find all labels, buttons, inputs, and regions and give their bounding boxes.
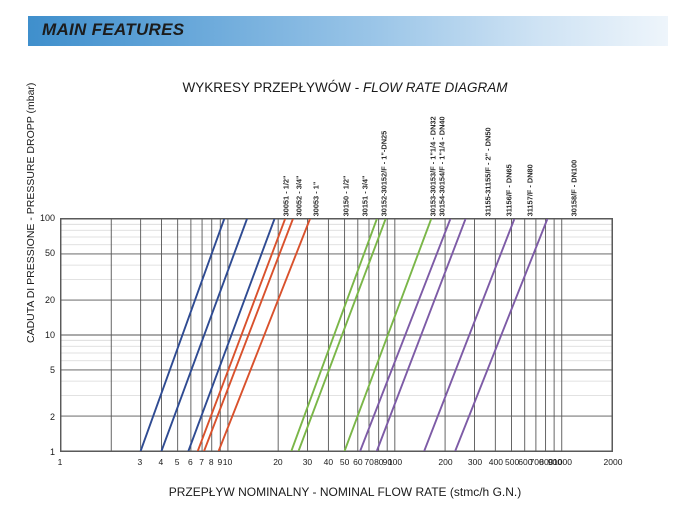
x-tick-20: 20 [265,457,291,467]
series-label-wrap: 31157/F - DN80 [534,215,535,216]
plot-canvas [61,219,612,451]
series-label-wrap: 31156/F - DN65 [513,215,514,216]
series-label: 30150 - 1/2" [343,175,350,216]
x-tick-100: 100 [382,457,408,467]
series-label: 30153-30153/F - 1"1/4 - DN32 [430,116,437,216]
y-tick-100: 100 [29,213,55,223]
series-label: 31157/F - DN80 [527,164,534,216]
series-label-wrap: 30051 - 1/2" [290,215,291,216]
y-tick-1: 1 [29,447,55,457]
series-label-wrap: 30052 - 3/4" [303,215,304,216]
chart-title: WYKRESY PRZEPŁYWÓW - FLOW RATE DIAGRAM [0,80,690,95]
x-axis-title: PRZEPŁYW NOMINALNY - NOMINAL FLOW RATE (… [0,485,690,499]
flow-rate-plot [60,218,613,452]
series-label: 30152-30152/F - 1"-DN25 [381,130,388,216]
series-label: 30158/F - DN100 [571,159,578,216]
y-tick-10: 10 [29,330,55,340]
x-tick-10: 10 [215,457,241,467]
series-label-wrap: 30158/F - DN100 [578,215,579,216]
series-label: 30154-30154/F - 1"1/4 - DN40 [439,116,446,216]
series-label: 31155-31155/F - 2" - DN50 [485,127,492,216]
y-tick-20: 20 [29,295,55,305]
series-label-wrap: 30151 - 3/4" [369,215,370,216]
grid-major [61,219,612,451]
series-label: 30051 - 1/2" [283,175,290,216]
x-tick-1: 1 [47,457,73,467]
series-label: 30151 - 3/4" [362,175,369,216]
series-label: 30052 - 3/4" [296,175,303,216]
banner-title: MAIN FEATURES [42,20,184,40]
chart-title-en: FLOW RATE DIAGRAM [363,80,508,95]
y-tick-2: 2 [29,412,55,422]
chart-title-pl: WYKRESY PRZEPŁYWÓW - [182,80,363,95]
x-tick-1000: 1000 [550,457,576,467]
y-tick-50: 50 [29,248,55,258]
y-tick-5: 5 [29,365,55,375]
series-label-wrap: 30150 - 1/2" [350,215,351,216]
series-label: 31156/F - DN65 [506,164,513,216]
series-label-wrap: 30053 - 1" [320,215,321,216]
series-label-wrap: 31155-31155/F - 2" - DN50 [492,215,493,216]
series-label-wrap: 30154-30154/F - 1"1/4 - DN40 [446,215,447,216]
x-tick-200: 200 [432,457,458,467]
x-tick-2000: 2000 [600,457,626,467]
series-label-wrap: 30152-30152/F - 1"-DN25 [388,215,389,216]
series-label: 30053 - 1" [313,181,320,216]
